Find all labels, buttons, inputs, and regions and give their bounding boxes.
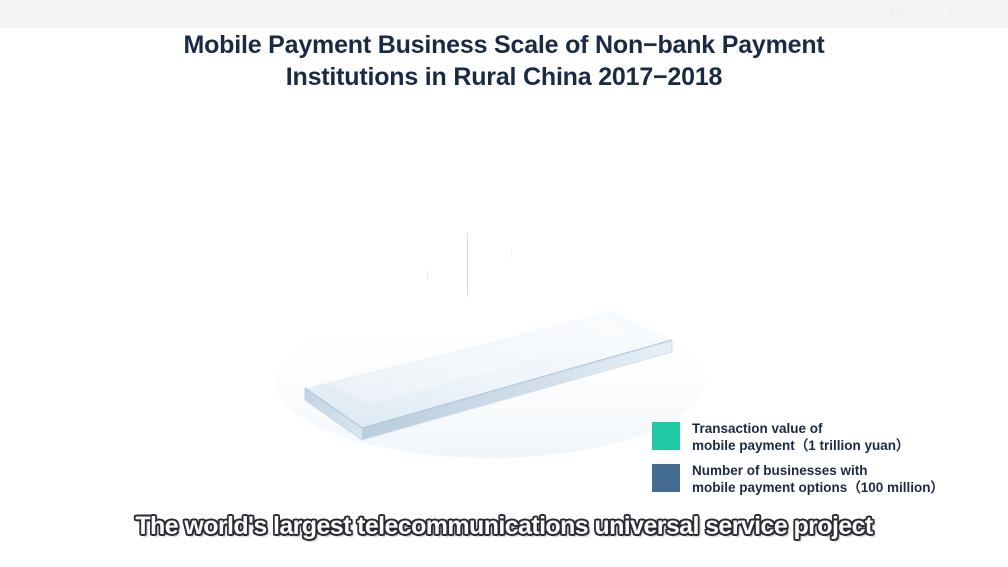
- platform-bottom-left-edge: [305, 400, 362, 440]
- legend-label-transaction-value-line-1: Transaction value of: [692, 420, 910, 437]
- platform-top-edge-highlight: [305, 312, 672, 388]
- video-caption: The world's largest telecommunications u…: [0, 512, 1008, 541]
- chart-slide: Mobile Pay Mobile Payment Business Scale…: [0, 0, 1008, 567]
- legend-label-transaction-value: Transaction value of mobile payment（1 tr…: [692, 420, 910, 454]
- platform-left-face: [305, 388, 362, 440]
- legend-label-transaction-value-line-2: mobile payment（1 trillion yuan）: [692, 437, 910, 454]
- top-band: [0, 0, 1008, 28]
- platform-front-edge: [362, 340, 672, 428]
- top-band-divider: [0, 27, 1008, 28]
- slab-glow: [275, 302, 705, 458]
- axis-residue-line: [467, 233, 468, 297]
- tick-residue-right: [511, 250, 512, 257]
- chart-title-line-1: Mobile Payment Business Scale of Non−ban…: [0, 30, 1008, 62]
- legend-swatch-business-count: [652, 464, 680, 492]
- legend-swatch-transaction-value: [652, 422, 680, 450]
- legend-label-business-count-line-1: Number of businesses with: [692, 462, 944, 479]
- chart-title-line-2: Institutions in Rural China 2017−2018: [0, 62, 1008, 94]
- legend-label-business-count: Number of businesses with mobile payment…: [692, 462, 944, 496]
- legend-item-transaction-value[interactable]: Transaction value of mobile payment（1 tr…: [652, 420, 992, 454]
- platform-bottom-edge: [362, 352, 672, 440]
- platform-left-edge: [305, 388, 362, 428]
- legend-item-business-count[interactable]: Number of businesses with mobile payment…: [652, 462, 992, 496]
- chart-title: Mobile Payment Business Scale of Non−ban…: [0, 30, 1008, 94]
- platform-top-face: [305, 312, 672, 428]
- tick-residue-left: [427, 271, 428, 279]
- chart-legend: Transaction value of mobile payment（1 tr…: [652, 420, 992, 504]
- legend-label-business-count-line-2: mobile payment options（100 million）: [692, 479, 944, 496]
- platform-front-face: [362, 340, 672, 440]
- platform-surface-sheen: [330, 318, 630, 404]
- ghost-watermark: Mobile Pay: [890, 6, 978, 23]
